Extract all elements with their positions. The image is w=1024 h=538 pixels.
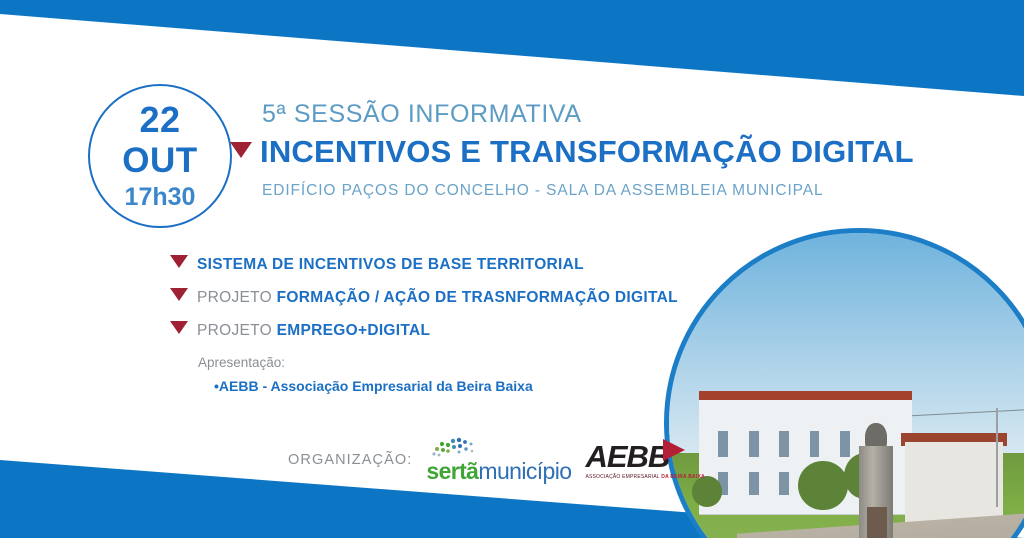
aebb-logo: AEBB ASSOCIAÇÃO EMPRESARIAL DA BEIRA BAI… (585, 441, 704, 480)
photo-window (749, 472, 759, 495)
date-time: 17h30 (125, 185, 196, 210)
topic-text: PROJETO EMPREGO+DIGITAL (197, 322, 430, 339)
serta-word-blue: município (478, 458, 571, 484)
list-item: PROJETO FORMAÇÃO / AÇÃO DE TRASNFORMAÇÃO… (170, 289, 690, 306)
topic-text: PROJETO FORMAÇÃO / AÇÃO DE TRASNFORMAÇÃO… (197, 289, 678, 306)
date-month: OUT (122, 143, 197, 178)
presentation-block: Apresentação: •AEBB - Associação Empresa… (198, 355, 690, 394)
topic-strong: EMPREGO+DIGITAL (277, 322, 431, 339)
photo-window (749, 431, 759, 458)
triangle-down-icon (170, 288, 188, 301)
organization-label: ORGANIZAÇÃO: (288, 452, 412, 468)
aebb-subtitle-normal: ASSOCIAÇÃO EMPRESARIAL (585, 474, 661, 480)
topic-list: SISTEMA DE INCENTIVOS DE BASE TERRITORIA… (170, 256, 690, 394)
topic-strong: FORMAÇÃO / AÇÃO DE TRASNFORMAÇÃO DIGITAL (277, 289, 678, 306)
organization-row: ORGANIZAÇÃO: sertãmunicípio (288, 437, 705, 483)
photo-utility-pole (996, 408, 999, 507)
aebb-subtitle: ASSOCIAÇÃO EMPRESARIAL DA BEIRA BAIXA (585, 474, 704, 480)
page-title: INCENTIVOS E TRANSFORMAÇÃO DIGITAL (260, 134, 914, 170)
date-badge: 22 OUT 17h30 (88, 84, 232, 228)
photo-window (718, 431, 728, 458)
triangle-down-icon (170, 321, 188, 334)
aebb-wordmark: AEBB (585, 441, 669, 472)
date-day: 22 (139, 102, 180, 138)
arrow-right-icon (663, 439, 685, 461)
photo-tree (798, 461, 847, 510)
serta-word-green: sertã (426, 458, 478, 484)
photo-illustration (669, 233, 1024, 538)
municipal-building-photo (664, 228, 1024, 538)
photo-window (840, 431, 850, 458)
photo-window (779, 431, 789, 458)
session-label: 5ª SESSÃO INFORMATIVA (262, 100, 982, 129)
presenter-item: •AEBB - Associação Empresarial da Beira … (214, 378, 690, 394)
topic-prefix: PROJETO (197, 289, 277, 306)
poster-canvas: 22 OUT 17h30 5ª SESSÃO INFORMATIVA INCEN… (0, 0, 1024, 538)
venue-label: EDIFÍCIO PAÇOS DO CONCELHO - SALA DA ASS… (262, 182, 982, 200)
dot-cluster-icon (428, 437, 488, 459)
list-item: PROJETO EMPREGO+DIGITAL (170, 322, 690, 339)
aebb-top-row: AEBB (585, 441, 685, 472)
photo-window (810, 431, 820, 458)
triangle-down-icon (170, 255, 188, 268)
topic-prefix: PROJETO (197, 322, 277, 339)
photo-monument-plaque (867, 507, 888, 538)
photo-annex-wall (905, 442, 1004, 526)
serta-wordmark: sertãmunicípio (426, 460, 571, 483)
photo-window (779, 472, 789, 495)
serta-municipio-logo: sertãmunicípio (426, 437, 571, 483)
list-item: SISTEMA DE INCENTIVOS DE BASE TERRITORIA… (170, 256, 690, 273)
topic-strong: SISTEMA DE INCENTIVOS DE BASE TERRITORIA… (197, 256, 584, 273)
header-block: 5ª SESSÃO INFORMATIVA INCENTIVOS E TRANS… (262, 100, 982, 200)
topic-text: SISTEMA DE INCENTIVOS DE BASE TERRITORIA… (197, 256, 584, 273)
triangle-down-icon (230, 142, 252, 158)
title-row: INCENTIVOS E TRANSFORMAÇÃO DIGITAL (230, 134, 982, 170)
aebb-subtitle-bold: DA BEIRA BAIXA (661, 474, 705, 480)
presentation-label: Apresentação: (198, 355, 690, 370)
